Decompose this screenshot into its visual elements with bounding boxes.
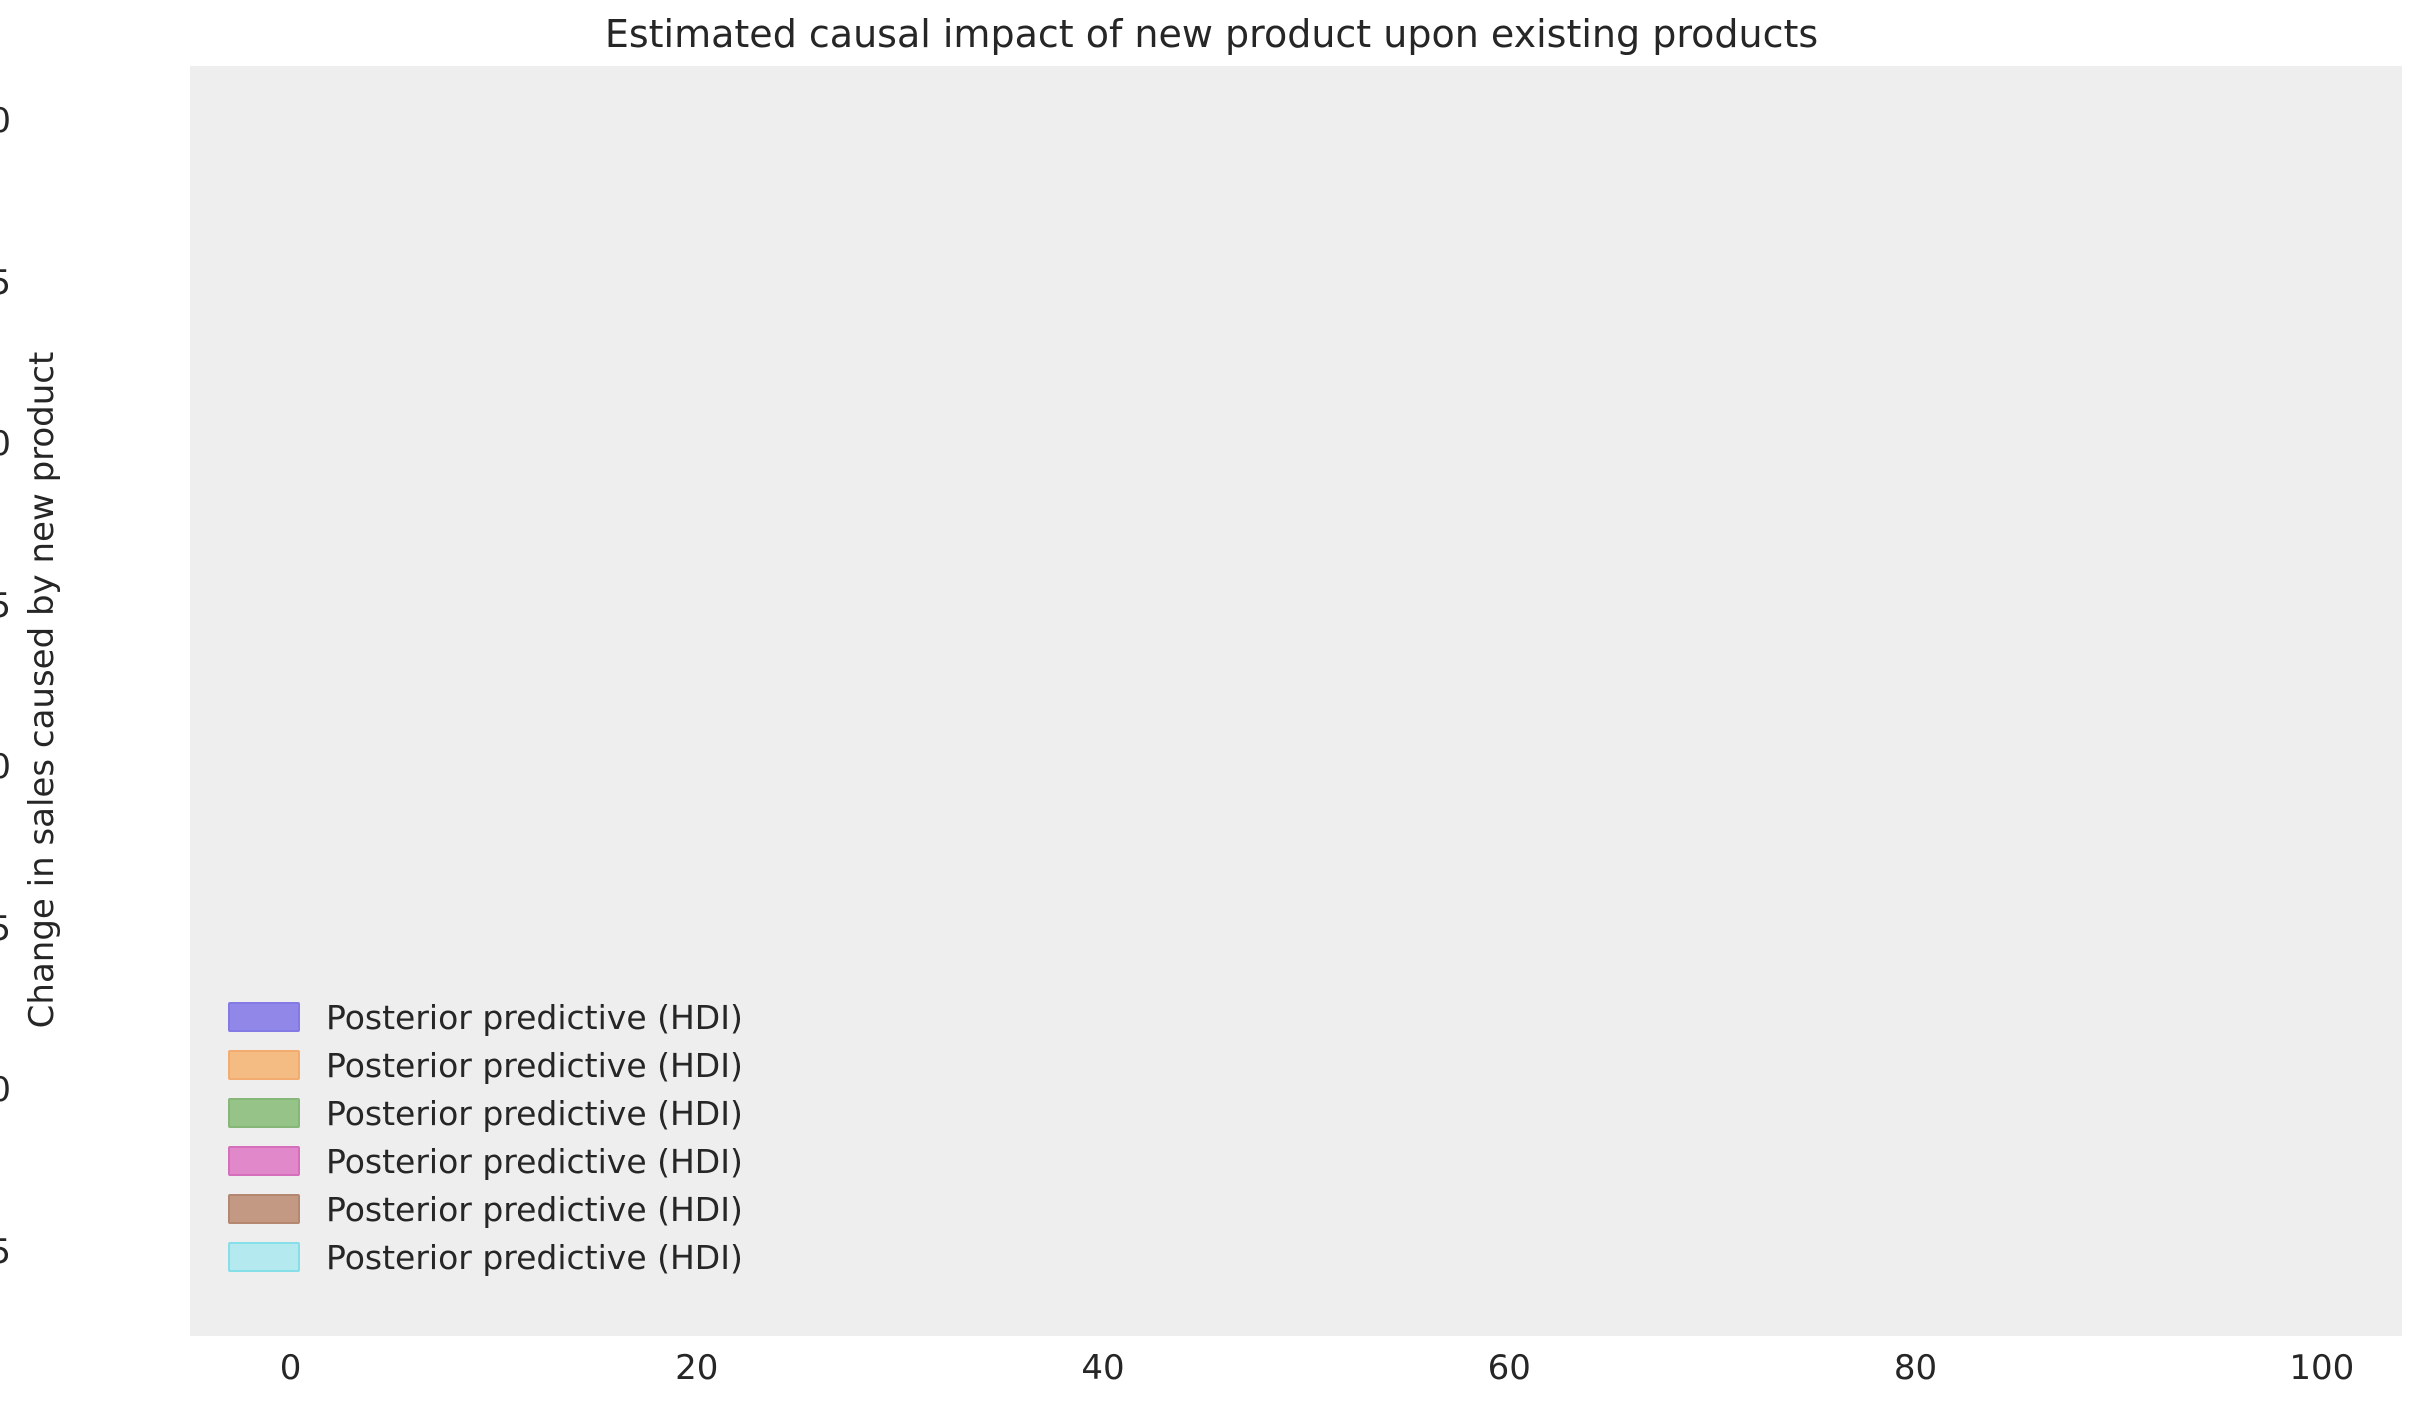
x-tick-label: 20 [627, 1348, 767, 1388]
legend-item[interactable]: Posterior predictive (HDI) [228, 1089, 858, 1137]
y-tick-label: −50 [0, 424, 11, 464]
legend-label: Posterior predictive (HDI) [326, 1190, 743, 1229]
legend-item[interactable]: Posterior predictive (HDI) [228, 1137, 858, 1185]
legend-item[interactable]: Posterior predictive (HDI) [228, 993, 858, 1041]
legend-item[interactable]: Posterior predictive (HDI) [228, 1233, 858, 1281]
legend-swatch-icon [228, 1050, 300, 1080]
y-tick-label: −25 [0, 263, 11, 303]
y-tick-label: −100 [0, 747, 11, 787]
y-tick-label: −125 [0, 909, 11, 949]
legend-swatch-icon [228, 1194, 300, 1224]
chart-title: Estimated causal impact of new product u… [0, 12, 2423, 56]
y-tick-label: −175 [0, 1232, 11, 1272]
legend-label: Posterior predictive (HDI) [326, 1142, 743, 1181]
legend-label: Posterior predictive (HDI) [326, 998, 743, 1037]
legend-label: Posterior predictive (HDI) [326, 1238, 743, 1277]
legend-swatch-icon [228, 1098, 300, 1128]
legend-swatch-icon [228, 1242, 300, 1272]
x-tick-label: 60 [1439, 1348, 1579, 1388]
x-tick-label: 80 [1846, 1348, 1986, 1388]
y-tick-label: −75 [0, 586, 11, 626]
x-tick-label: 40 [1033, 1348, 1173, 1388]
chart-legend: Posterior predictive (HDI)Posterior pred… [228, 993, 858, 1281]
legend-label: Posterior predictive (HDI) [326, 1046, 743, 1085]
x-tick-label: 100 [2252, 1348, 2392, 1388]
y-tick-label: 0 [0, 101, 11, 141]
y-axis-label: Change in sales caused by new product [22, 190, 62, 1190]
y-tick-label: −150 [0, 1070, 11, 1110]
legend-label: Posterior predictive (HDI) [326, 1094, 743, 1133]
chart-figure: Estimated causal impact of new product u… [0, 0, 2423, 1423]
legend-item[interactable]: Posterior predictive (HDI) [228, 1041, 858, 1089]
legend-swatch-icon [228, 1002, 300, 1032]
legend-swatch-icon [228, 1146, 300, 1176]
legend-item[interactable]: Posterior predictive (HDI) [228, 1185, 858, 1233]
x-tick-label: 0 [221, 1348, 361, 1388]
